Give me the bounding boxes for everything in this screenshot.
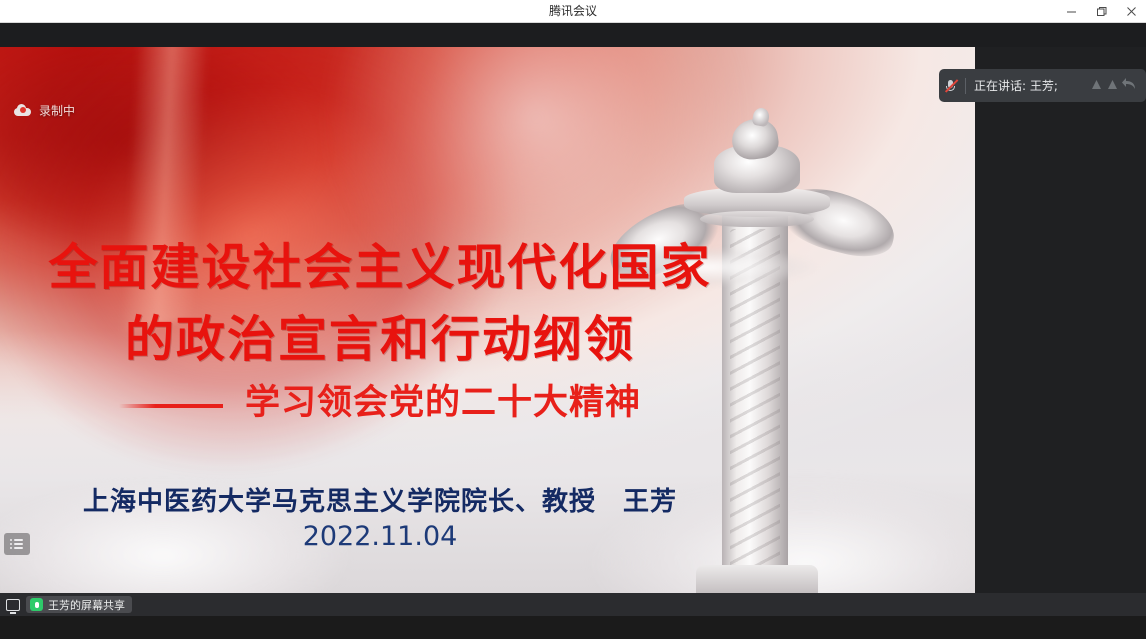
share-menu-button[interactable] [4,533,30,555]
active-speaker-banner[interactable]: 正在讲话: 王芳; [939,69,1146,102]
slide-title: 全面建设社会主义现代化国家 的政治宣言和行动纲领 [0,232,760,376]
recording-label: 录制中 [39,102,75,119]
banner-divider [965,78,966,94]
slide-date: 2022.11.04 [0,517,760,557]
presentation-slide: 全面建设社会主义现代化国家 的政治宣言和行动纲领 学习领会党的二十大精神 上海中… [0,47,975,593]
screen-share-status[interactable]: 王芳的屏幕共享 [26,596,132,613]
collapse-arrow-icon[interactable] [1122,76,1137,95]
shared-screen-area[interactable]: 全面建设社会主义现代化国家 的政治宣言和行动纲领 学习领会党的二十大精神 上海中… [0,47,975,593]
slide-title-line1: 全面建设社会主义现代化国家 [48,239,711,296]
prev-page-arrow-icon[interactable] [1090,76,1103,95]
slide-subtitle-text: 学习领会党的二十大精神 [245,383,641,423]
screen-share-label: 王芳的屏幕共享 [48,597,125,613]
top-strip [0,23,1146,47]
cloud-record-icon [14,104,31,116]
window-controls [1056,0,1146,23]
slide-subtitle: 学习领会党的二十大精神 [0,379,760,427]
window-title: 腾讯会议 [0,0,1146,23]
pillar-base [696,565,818,593]
banner-arrow-group [1090,76,1146,95]
slide-presenter: 上海中医药大学马克思主义学院院长、教授 王芳 [0,482,760,522]
slide-title-line2: 的政治宣言和行动纲领 [0,304,760,376]
next-page-arrow-icon[interactable] [1106,76,1119,95]
list-menu-icon [10,537,24,551]
mic-on-icon [30,598,43,611]
minimize-button[interactable] [1056,0,1086,23]
recording-indicator[interactable]: 录制中 [14,99,75,121]
screen-share-icon [6,599,20,611]
maximize-button[interactable] [1086,0,1116,23]
meeting-window: 全面建设社会主义现代化国家 的政治宣言和行动纲领 学习领会党的二十大精神 上海中… [0,23,1146,616]
close-button[interactable] [1116,0,1146,23]
mic-muted-icon [939,79,963,93]
subtitle-dash [119,404,223,408]
window-title-bar: 腾讯会议 [0,0,1146,23]
participant-rail: 组织部 王昕檀 王芳 [975,47,1146,593]
status-bar: 王芳的屏幕共享 [0,593,1146,616]
active-speaker-text: 正在讲话: 王芳; [974,77,1090,94]
pillar-plate-lower [700,211,814,227]
